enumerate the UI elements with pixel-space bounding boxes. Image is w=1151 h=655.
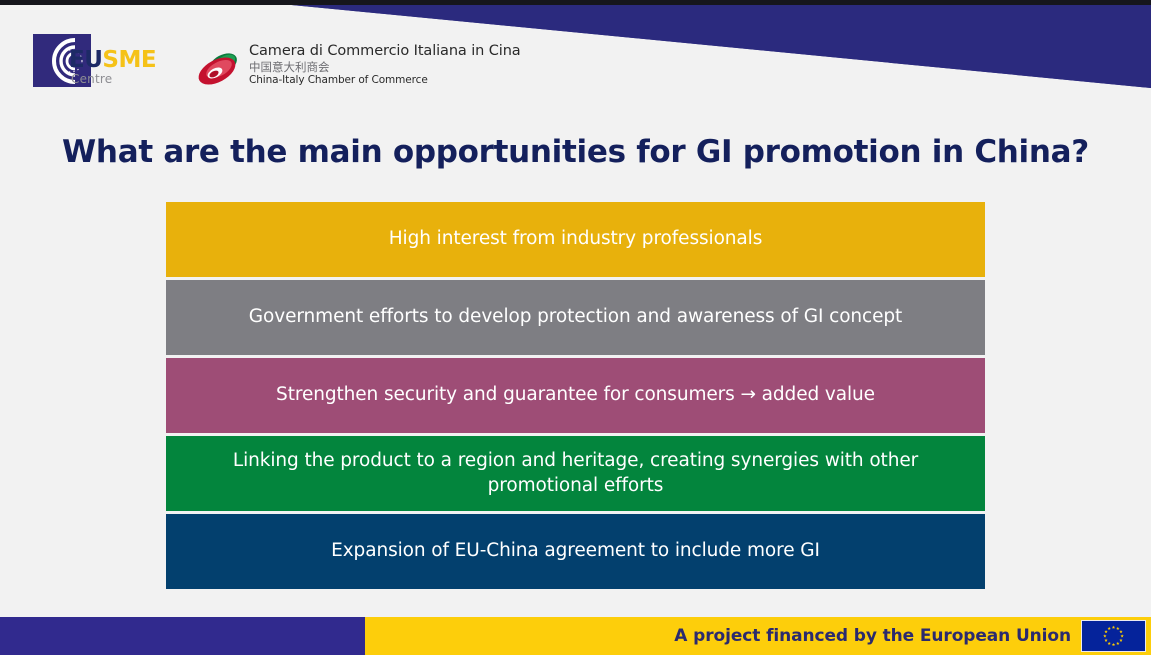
opportunity-bar-4-label: Linking the product to a region and heri… bbox=[184, 449, 967, 497]
slide-title: What are the main opportunities for GI p… bbox=[0, 134, 1151, 170]
opportunity-bar-5-label: Expansion of EU-China agreement to inclu… bbox=[331, 539, 820, 563]
slide-canvas: EUSME Centre Camera di Commercio Italian… bbox=[0, 0, 1151, 655]
chamber-name-english: China-Italy Chamber of Commerce bbox=[249, 74, 521, 88]
footer-funding-text: A project financed by the European Union bbox=[674, 626, 1071, 646]
opportunity-bar-1-label: High interest from industry professional… bbox=[389, 227, 762, 251]
eu-flag bbox=[1081, 620, 1146, 652]
eu-sme-centre-logo: EUSME Centre bbox=[33, 34, 153, 90]
logo-word-sme: SME bbox=[102, 47, 156, 73]
opportunity-bar-3-label: Strengthen security and guarantee for co… bbox=[276, 383, 875, 407]
chamber-name-italian: Camera di Commercio Italiana in Cina bbox=[249, 43, 521, 60]
opportunities-bar-list: High interest from industry professional… bbox=[166, 202, 985, 592]
opportunity-bar-1: High interest from industry professional… bbox=[166, 202, 985, 277]
slide-footer: A project financed by the European Union bbox=[0, 617, 1151, 655]
footer-left-block bbox=[0, 617, 365, 655]
opportunity-bar-3: Strengthen security and guarantee for co… bbox=[166, 358, 985, 433]
logo-word-centre: Centre bbox=[71, 72, 112, 86]
opportunity-bar-2-label: Government efforts to develop protection… bbox=[249, 305, 902, 329]
chamber-text-block: Camera di Commercio Italiana in Cina 中国意… bbox=[249, 43, 521, 88]
china-italy-chamber-of-commerce-logo: Camera di Commercio Italiana in Cina 中国意… bbox=[193, 43, 463, 99]
eu-flag-stars bbox=[1082, 621, 1145, 651]
chamber-swirl-icon bbox=[193, 47, 247, 91]
logo-wordmark: EUSME bbox=[69, 49, 156, 72]
opportunity-bar-4: Linking the product to a region and heri… bbox=[166, 436, 985, 511]
opportunity-bar-2: Government efforts to develop protection… bbox=[166, 280, 985, 355]
logo-word-eu: EU bbox=[69, 47, 102, 73]
slide-header: EUSME Centre Camera di Commercio Italian… bbox=[0, 5, 1151, 105]
chamber-name-chinese: 中国意大利商会 bbox=[249, 60, 521, 74]
opportunity-bar-5: Expansion of EU-China agreement to inclu… bbox=[166, 514, 985, 589]
